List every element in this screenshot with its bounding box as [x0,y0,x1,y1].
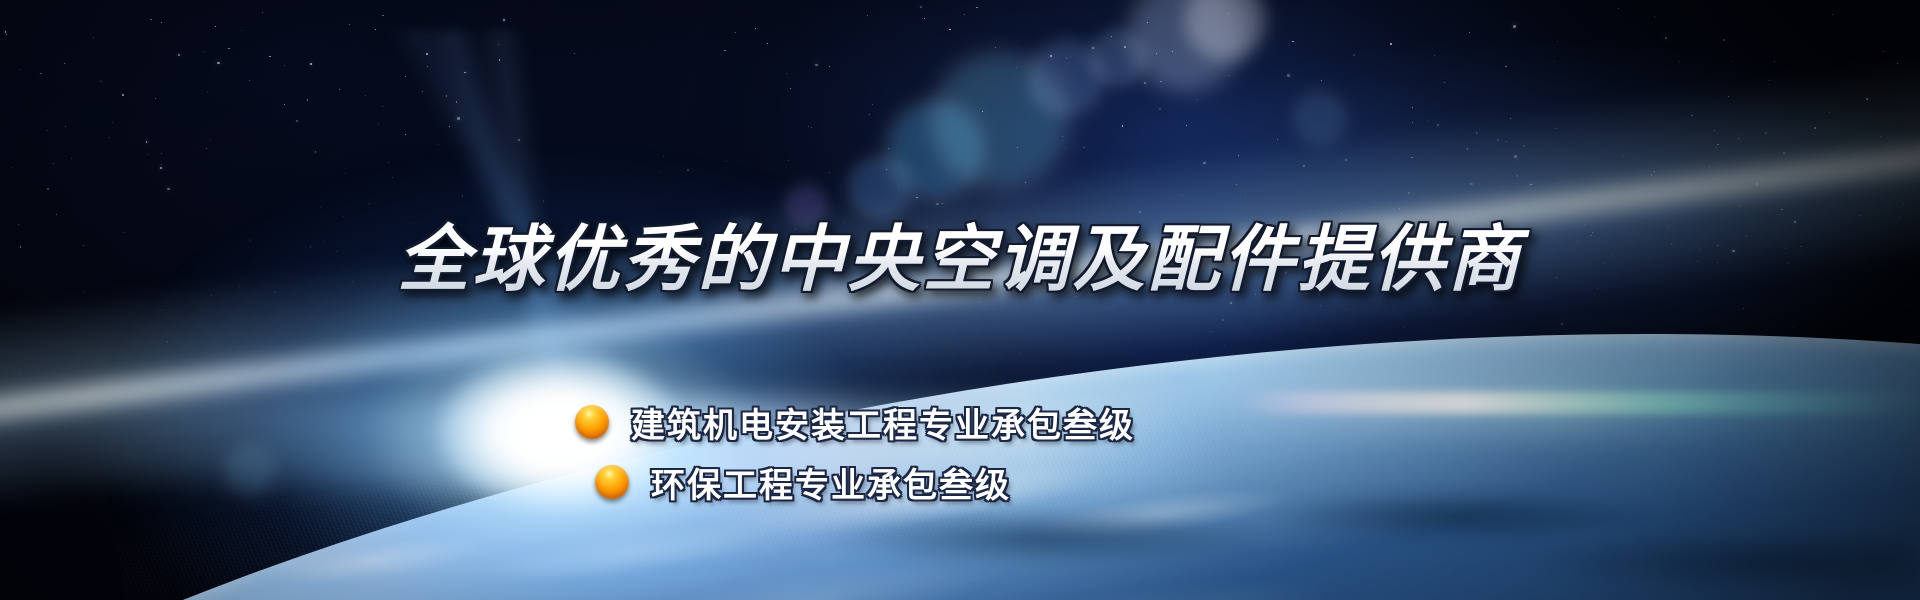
banner-content: 全球优秀的中央空调及配件提供商 建筑机电安装工程专业承包叁级 环保工程专业承包叁… [0,0,1920,600]
list-item: 建筑机电安装工程专业承包叁级 [575,392,1135,452]
list-item-label: 环保工程专业承包叁级 [651,458,1011,507]
list-item-label: 建筑机电安装工程专业承包叁级 [631,398,1135,447]
page-title: 全球优秀的中央空调及配件提供商 [0,200,1920,305]
orange-dot-icon [575,405,609,439]
orange-dot-icon [595,465,629,499]
list-item: 环保工程专业承包叁级 [595,452,1135,512]
certification-list: 建筑机电安装工程专业承包叁级 环保工程专业承包叁级 [575,392,1135,512]
hero-banner: 全球优秀的中央空调及配件提供商 建筑机电安装工程专业承包叁级 环保工程专业承包叁… [0,0,1920,600]
